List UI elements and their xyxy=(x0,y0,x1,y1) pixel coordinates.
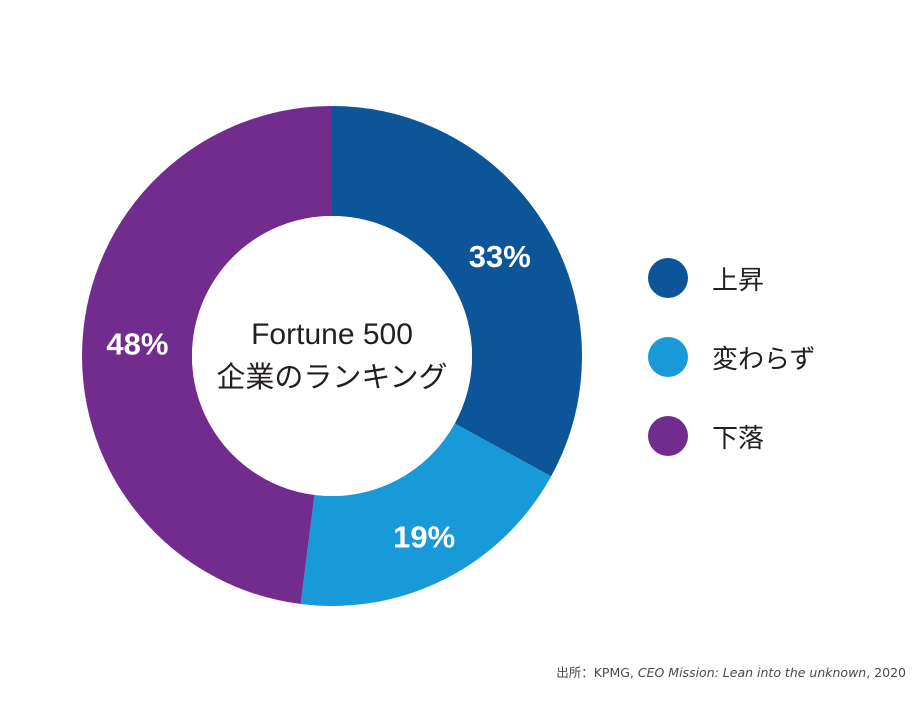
legend-swatch-icon-rise xyxy=(648,258,688,298)
slice-label-rise: 33% xyxy=(469,239,531,274)
source-note: 出所：KPMG, CEO Mission: Lean into the unkn… xyxy=(556,662,906,681)
legend-label-rise: 上昇 xyxy=(712,260,764,297)
donut-chart-figure: 33% 19% 48% Fortune 500 企業のランキング 上昇 変わらず… xyxy=(0,0,922,712)
legend-label-decline: 下落 xyxy=(712,418,764,455)
legend-label-unchanged: 変わらず xyxy=(712,339,815,376)
legend-item-decline[interactable]: 下落 xyxy=(648,407,898,465)
legend-swatch-icon-decline xyxy=(648,416,688,456)
source-title: CEO Mission: Lean into the unknown xyxy=(638,665,866,680)
legend-item-unchanged[interactable]: 変わらず xyxy=(648,328,898,386)
slice-label-unchanged: 19% xyxy=(393,519,455,554)
donut-chart: 33% 19% 48% xyxy=(82,106,582,606)
legend-item-rise[interactable]: 上昇 xyxy=(648,249,898,307)
chart-legend: 上昇 変わらず 下落 xyxy=(648,249,898,465)
source-suffix: , 2020 xyxy=(866,665,906,680)
donut-svg: 33% 19% 48% xyxy=(82,106,582,606)
slice-label-decline: 48% xyxy=(106,326,168,361)
donut-hole xyxy=(192,216,472,496)
legend-swatch-icon-unchanged xyxy=(648,337,688,377)
source-prefix: 出所：KPMG, xyxy=(556,665,638,680)
